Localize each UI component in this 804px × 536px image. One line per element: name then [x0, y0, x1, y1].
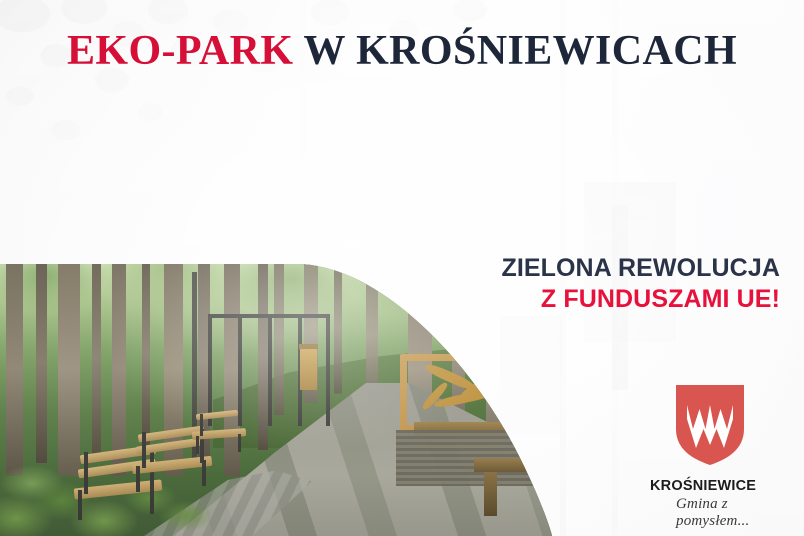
subtitle-line-1: ZIELONA REWOLUCJA — [501, 253, 780, 284]
municipality-slogan: Gmina z pomysłem... — [676, 496, 792, 530]
municipality-logo: KROŚNIEWICE Gmina z pomysłem... — [644, 384, 792, 524]
poster: EKO-PARK W KROŚNIEWICACH — [0, 0, 804, 536]
subtitle-line-2: Z FUNDUSZAMI UE! — [501, 284, 780, 315]
coat-of-arms-icon — [676, 385, 744, 465]
page-title-accent: EKO-PARK — [67, 28, 293, 74]
page-title-rest: W KROŚNIEWICACH — [293, 28, 737, 74]
bench-distant — [190, 412, 252, 454]
litter-bin — [300, 348, 317, 390]
page-title: EKO-PARK W KROŚNIEWICACH — [0, 30, 804, 72]
municipality-name: KROŚNIEWICE — [650, 478, 756, 494]
subtitle: ZIELONA REWOLUCJA Z FUNDUSZAMI UE! — [501, 253, 780, 315]
